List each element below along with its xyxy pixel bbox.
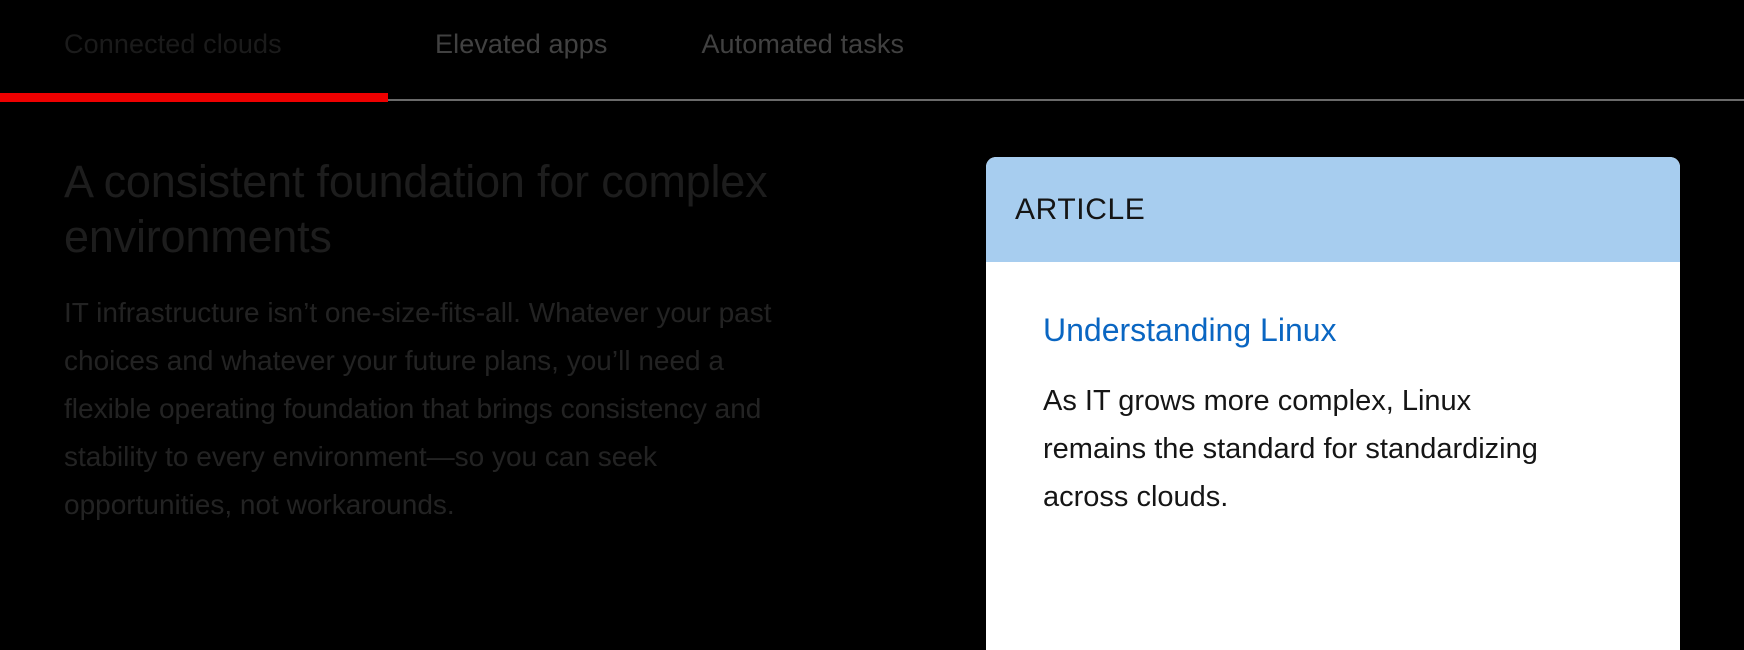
tab-bar: Connected clouds Elevated apps Automated…: [0, 0, 1744, 102]
card-body: Understanding Linux As IT grows more com…: [986, 262, 1680, 522]
card-description: As IT grows more complex, Linux remains …: [1043, 378, 1563, 522]
article-card[interactable]: ARTICLE Understanding Linux As IT grows …: [986, 157, 1680, 650]
card-eyebrow-label: ARTICLE: [1015, 195, 1145, 225]
tab-automated-tasks[interactable]: Automated tasks: [654, 0, 951, 104]
tab-elevated-apps[interactable]: Elevated apps: [388, 0, 654, 104]
section-heading: A consistent foundation for complex envi…: [64, 154, 804, 265]
page-root: Connected clouds Elevated apps Automated…: [0, 0, 1744, 650]
section-body-text: IT infrastructure isn’t one-size-fits-al…: [64, 289, 794, 530]
active-tab-indicator: [0, 93, 388, 102]
tab-label: Automated tasks: [701, 29, 904, 59]
tab-label: Connected clouds: [64, 29, 282, 59]
text-column: A consistent foundation for complex envi…: [64, 154, 864, 529]
card-eyebrow-band: ARTICLE: [986, 157, 1680, 262]
tab-label: Elevated apps: [435, 29, 607, 59]
tab-connected-clouds[interactable]: Connected clouds: [0, 0, 388, 104]
content-area: A consistent foundation for complex envi…: [0, 102, 1744, 650]
tab-list: Connected clouds Elevated apps Automated…: [0, 0, 951, 104]
card-article-link[interactable]: Understanding Linux: [1043, 310, 1337, 350]
